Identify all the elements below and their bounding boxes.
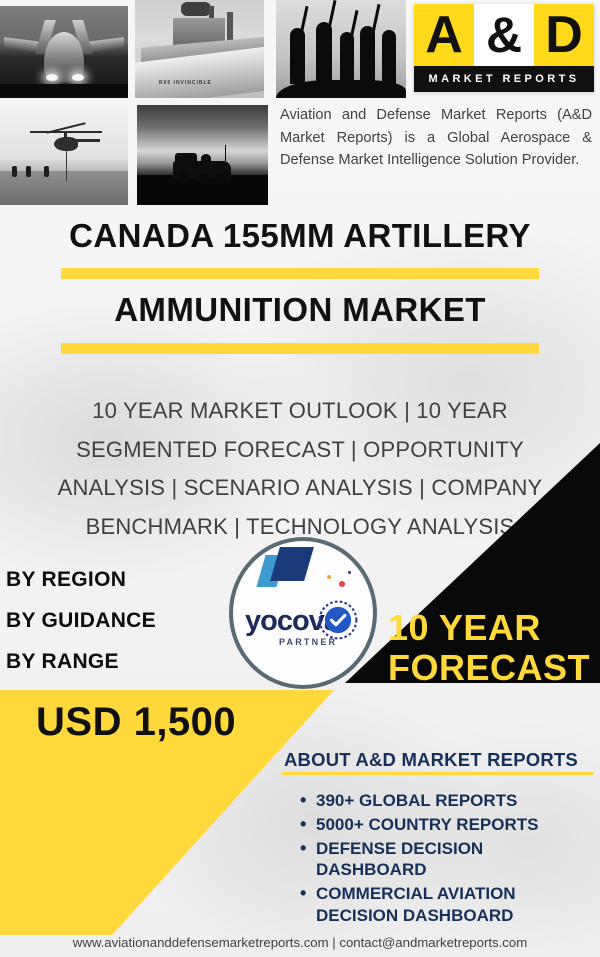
- report-title-line-2: AMMUNITION MARKET: [0, 292, 600, 329]
- segment-item-range: BY RANGE: [6, 642, 156, 683]
- price-value: USD 1,500: [36, 700, 236, 745]
- about-bullet-list: 390+ GLOBAL REPORTS 5000+ COUNTRY REPORT…: [300, 790, 592, 929]
- badge-swoosh-dark-icon: [270, 547, 314, 581]
- about-item-commercial-aviation-dashboard: COMMERCIAL AVIATION DECISION DASHBOARD: [300, 883, 592, 927]
- about-item-defense-dashboard: DEFENSE DECISION DASHBOARD: [300, 838, 592, 882]
- report-title: CANADA 155MM ARTILLERY AMMUNITION MARKET: [0, 218, 600, 354]
- about-item-global-reports: 390+ GLOBAL REPORTS: [300, 790, 592, 812]
- company-logo: A & D MARKET REPORTS: [414, 4, 594, 92]
- photo-armored-vehicle: [137, 105, 268, 205]
- about-heading: ABOUT A&D MARKET REPORTS: [284, 749, 578, 771]
- photo-soldiers-silhouette: [276, 0, 406, 98]
- report-poster: R05 INVINCIBLE A & D MARKET REPORTS: [0, 0, 600, 957]
- about-item-country-reports: 5000+ COUNTRY REPORTS: [300, 814, 592, 836]
- logo-ampersand: &: [474, 4, 534, 66]
- photo-aircraft-carrier: R05 INVINCIBLE: [135, 0, 264, 98]
- segmentation-list: BY REGION BY GUIDANCE BY RANGE: [6, 560, 156, 683]
- footer-contact: www.aviationanddefensemarketreports.com …: [0, 935, 600, 950]
- report-scope-subtitle: 10 YEAR MARKET OUTLOOK | 10 YEAR SEGMENT…: [48, 392, 552, 546]
- forecast-line-1: 10 YEAR: [388, 608, 600, 648]
- logo-letter-a: A: [414, 4, 474, 66]
- photo-fighter-jet-on-carrier: [0, 6, 128, 98]
- logo-subtitle-text: MARKET REPORTS: [429, 73, 580, 85]
- verified-check-icon: [317, 599, 359, 641]
- forecast-callout: 10 YEAR FORECAST: [388, 608, 600, 689]
- segment-item-region: BY REGION: [6, 560, 156, 601]
- photo-military-helicopter: [0, 105, 128, 205]
- title-underline-2: [61, 343, 539, 354]
- forecast-line-2: FORECAST: [388, 648, 600, 688]
- logo-letter-d: D: [534, 4, 594, 66]
- company-description: Aviation and Defense Market Reports (A&D…: [280, 104, 592, 172]
- title-underline-1: [61, 268, 539, 279]
- report-title-line-1: CANADA 155MM ARTILLERY: [0, 218, 600, 255]
- about-heading-underline: [282, 772, 594, 775]
- yocova-partner-badge: yocova PARTNER: [229, 537, 377, 689]
- segment-item-guidance: BY GUIDANCE: [6, 601, 156, 642]
- logo-subtitle-bar: MARKET REPORTS: [414, 66, 594, 92]
